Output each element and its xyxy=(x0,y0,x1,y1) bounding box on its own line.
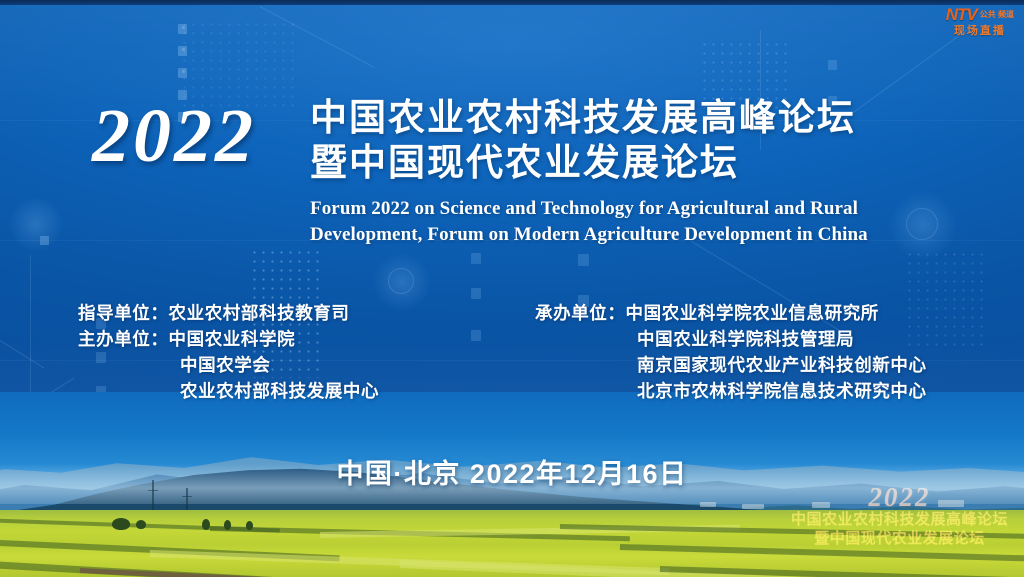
guidance-unit-row: 指导单位： 农业农村部科技教育司 xyxy=(78,300,379,326)
host-unit-value: 中国农业科学院 xyxy=(169,326,296,352)
tree xyxy=(246,521,253,530)
organizer-unit-value: 中国农业科学院科技管理局 xyxy=(637,326,854,352)
distant-village xyxy=(700,502,716,507)
watermark-line-1: 中国农业农村科技发展高峰论坛 xyxy=(791,511,1008,530)
title-chinese-line-1: 中国农业农村科技发展高峰论坛 xyxy=(310,96,970,141)
indent-spacer xyxy=(78,378,180,404)
broadcast-title-card: 2022 中国农业农村科技发展高峰论坛 暨中国现代农业发展论坛 Forum 20… xyxy=(0,0,1024,577)
host-unit-label: 主办单位： xyxy=(78,326,169,352)
host-unit-row: 中国农学会 xyxy=(78,352,379,378)
watermark-line-2: 暨中国现代农业发展论坛 xyxy=(791,530,1008,549)
indent-spacer xyxy=(535,352,637,378)
organizer-unit-value: 南京国家现代农业产业科技创新中心 xyxy=(637,352,927,378)
organizer-unit-row: 中国农业科学院科技管理局 xyxy=(535,326,927,352)
organizer-unit-row: 南京国家现代农业产业科技创新中心 xyxy=(535,352,927,378)
organizer-block-left: 指导单位： 农业农村部科技教育司 主办单位： 中国农业科学院 中国农学会 农业农… xyxy=(78,300,379,404)
tree xyxy=(202,519,210,530)
organizer-block-right: 承办单位： 中国农业科学院农业信息研究所 中国农业科学院科技管理局 南京国家现代… xyxy=(535,300,927,404)
guidance-unit-value: 农业农村部科技教育司 xyxy=(169,300,350,326)
tree xyxy=(112,518,130,530)
ntv-wordmark-icon: NTV xyxy=(946,6,977,23)
headline-year: 2022 xyxy=(92,98,256,174)
station-logo-mark-row: NTV 公共 频道 xyxy=(946,6,1014,23)
indent-spacer xyxy=(535,326,637,352)
indent-spacer xyxy=(78,352,180,378)
organizer-unit-value: 北京市农林科学院信息技术研究中心 xyxy=(637,378,927,404)
corner-watermark: 2022 中国农业农村科技发展高峰论坛 暨中国现代农业发展论坛 xyxy=(791,484,1008,549)
organizer-unit-value: 中国农业科学院农业信息研究所 xyxy=(626,300,879,326)
host-unit-value: 中国农学会 xyxy=(180,352,271,378)
host-unit-value: 农业农村部科技发展中心 xyxy=(180,378,379,404)
organizer-unit-label: 承办单位： xyxy=(535,300,626,326)
title-chinese-line-2: 暨中国现代农业发展论坛 xyxy=(310,141,970,186)
live-broadcast-label: 现场直播 xyxy=(946,25,1014,37)
title-english-line-1: Forum 2022 on Science and Technology for… xyxy=(310,196,970,222)
headline-title-block: 中国农业农村科技发展高峰论坛 暨中国现代农业发展论坛 Forum 2022 on… xyxy=(310,96,970,249)
guidance-unit-label: 指导单位： xyxy=(78,300,169,326)
indent-spacer xyxy=(535,378,637,404)
station-logo-chinese-mark: 公共 频道 xyxy=(980,10,1014,19)
top-edge-trim xyxy=(0,0,1024,5)
organizer-credits: 指导单位： 农业农村部科技教育司 主办单位： 中国农业科学院 中国农学会 农业农… xyxy=(0,300,1024,410)
organizer-unit-row: 承办单位： 中国农业科学院农业信息研究所 xyxy=(535,300,927,326)
title-english-line-2: Development, Forum on Modern Agriculture… xyxy=(310,222,970,248)
distant-village xyxy=(742,504,764,509)
watermark-year: 2022 xyxy=(791,484,1008,511)
organizer-unit-row: 北京市农林科学院信息技术研究中心 xyxy=(535,378,927,404)
tree xyxy=(136,520,146,529)
host-unit-row: 主办单位： 中国农业科学院 xyxy=(78,326,379,352)
station-logo: NTV 公共 频道 现场直播 xyxy=(946,6,1014,37)
tree xyxy=(224,520,231,530)
host-unit-row: 农业农村部科技发展中心 xyxy=(78,378,379,404)
